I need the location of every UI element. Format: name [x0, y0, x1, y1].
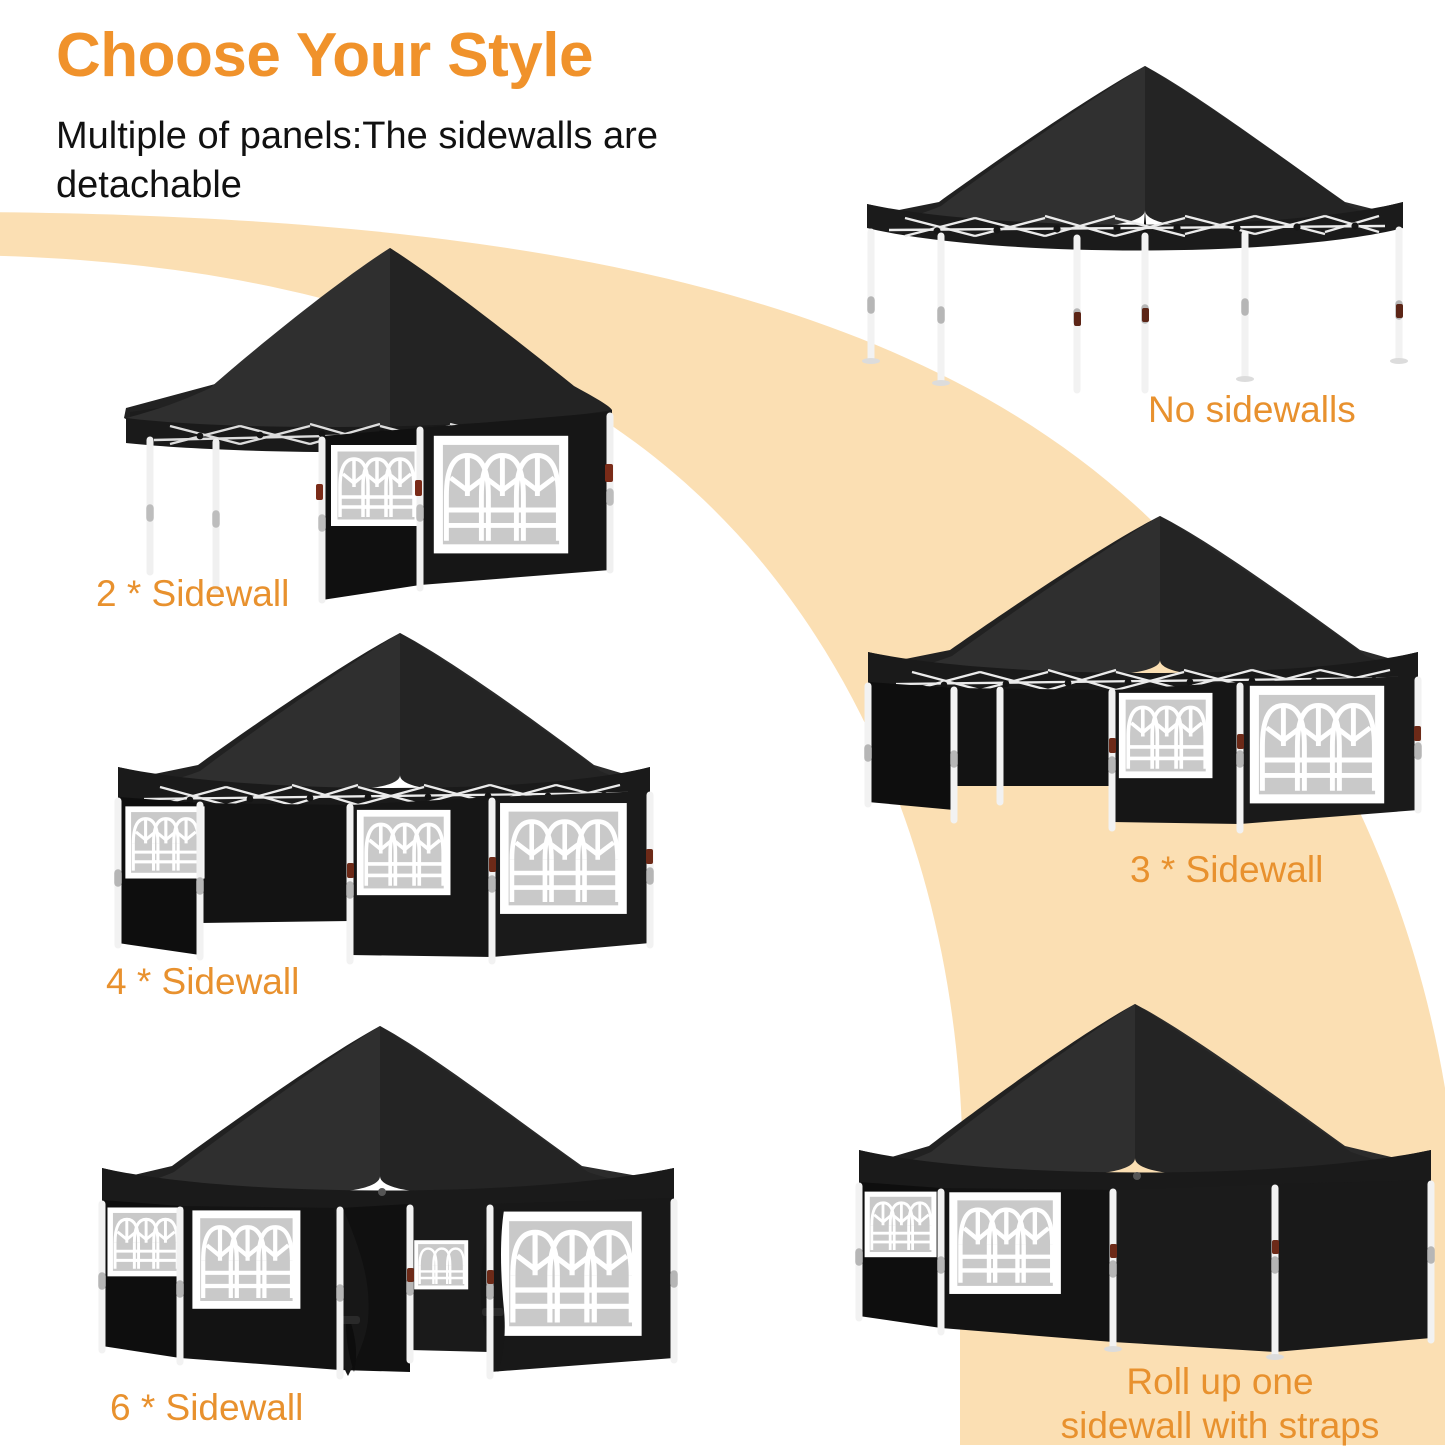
tent-figure-six-sidewall	[80, 1020, 700, 1390]
caption-six-sidewall: 6 * Sidewall	[110, 1386, 303, 1430]
tent-figure-three-sidewall	[850, 510, 1440, 860]
tent-figure-four-sidewall	[100, 625, 670, 970]
tent-figure-roll-up-sidewall	[845, 1000, 1445, 1370]
caption-four-sidewall: 4 * Sidewall	[106, 960, 299, 1004]
page-title: Choose Your Style	[56, 24, 593, 88]
page-subtitle: Multiple of panels:The sidewalls are det…	[56, 112, 756, 211]
caption-roll-up-line-2: sidewall with straps	[1020, 1404, 1420, 1447]
caption-two-sidewall: 2 * Sidewall	[96, 572, 289, 616]
infographic-canvas: Choose Your Style Multiple of panels:The…	[0, 0, 1445, 1445]
caption-three-sidewall: 3 * Sidewall	[1130, 848, 1323, 892]
caption-roll-up-line-1: Roll up one	[1020, 1360, 1420, 1404]
caption-roll-up-sidewall: Roll up one sidewall with straps	[1020, 1360, 1420, 1447]
tent-figure-no-sidewall	[845, 60, 1425, 390]
caption-no-sidewall: No sidewalls	[1148, 388, 1356, 432]
tent-figure-two-sidewall	[90, 240, 650, 600]
